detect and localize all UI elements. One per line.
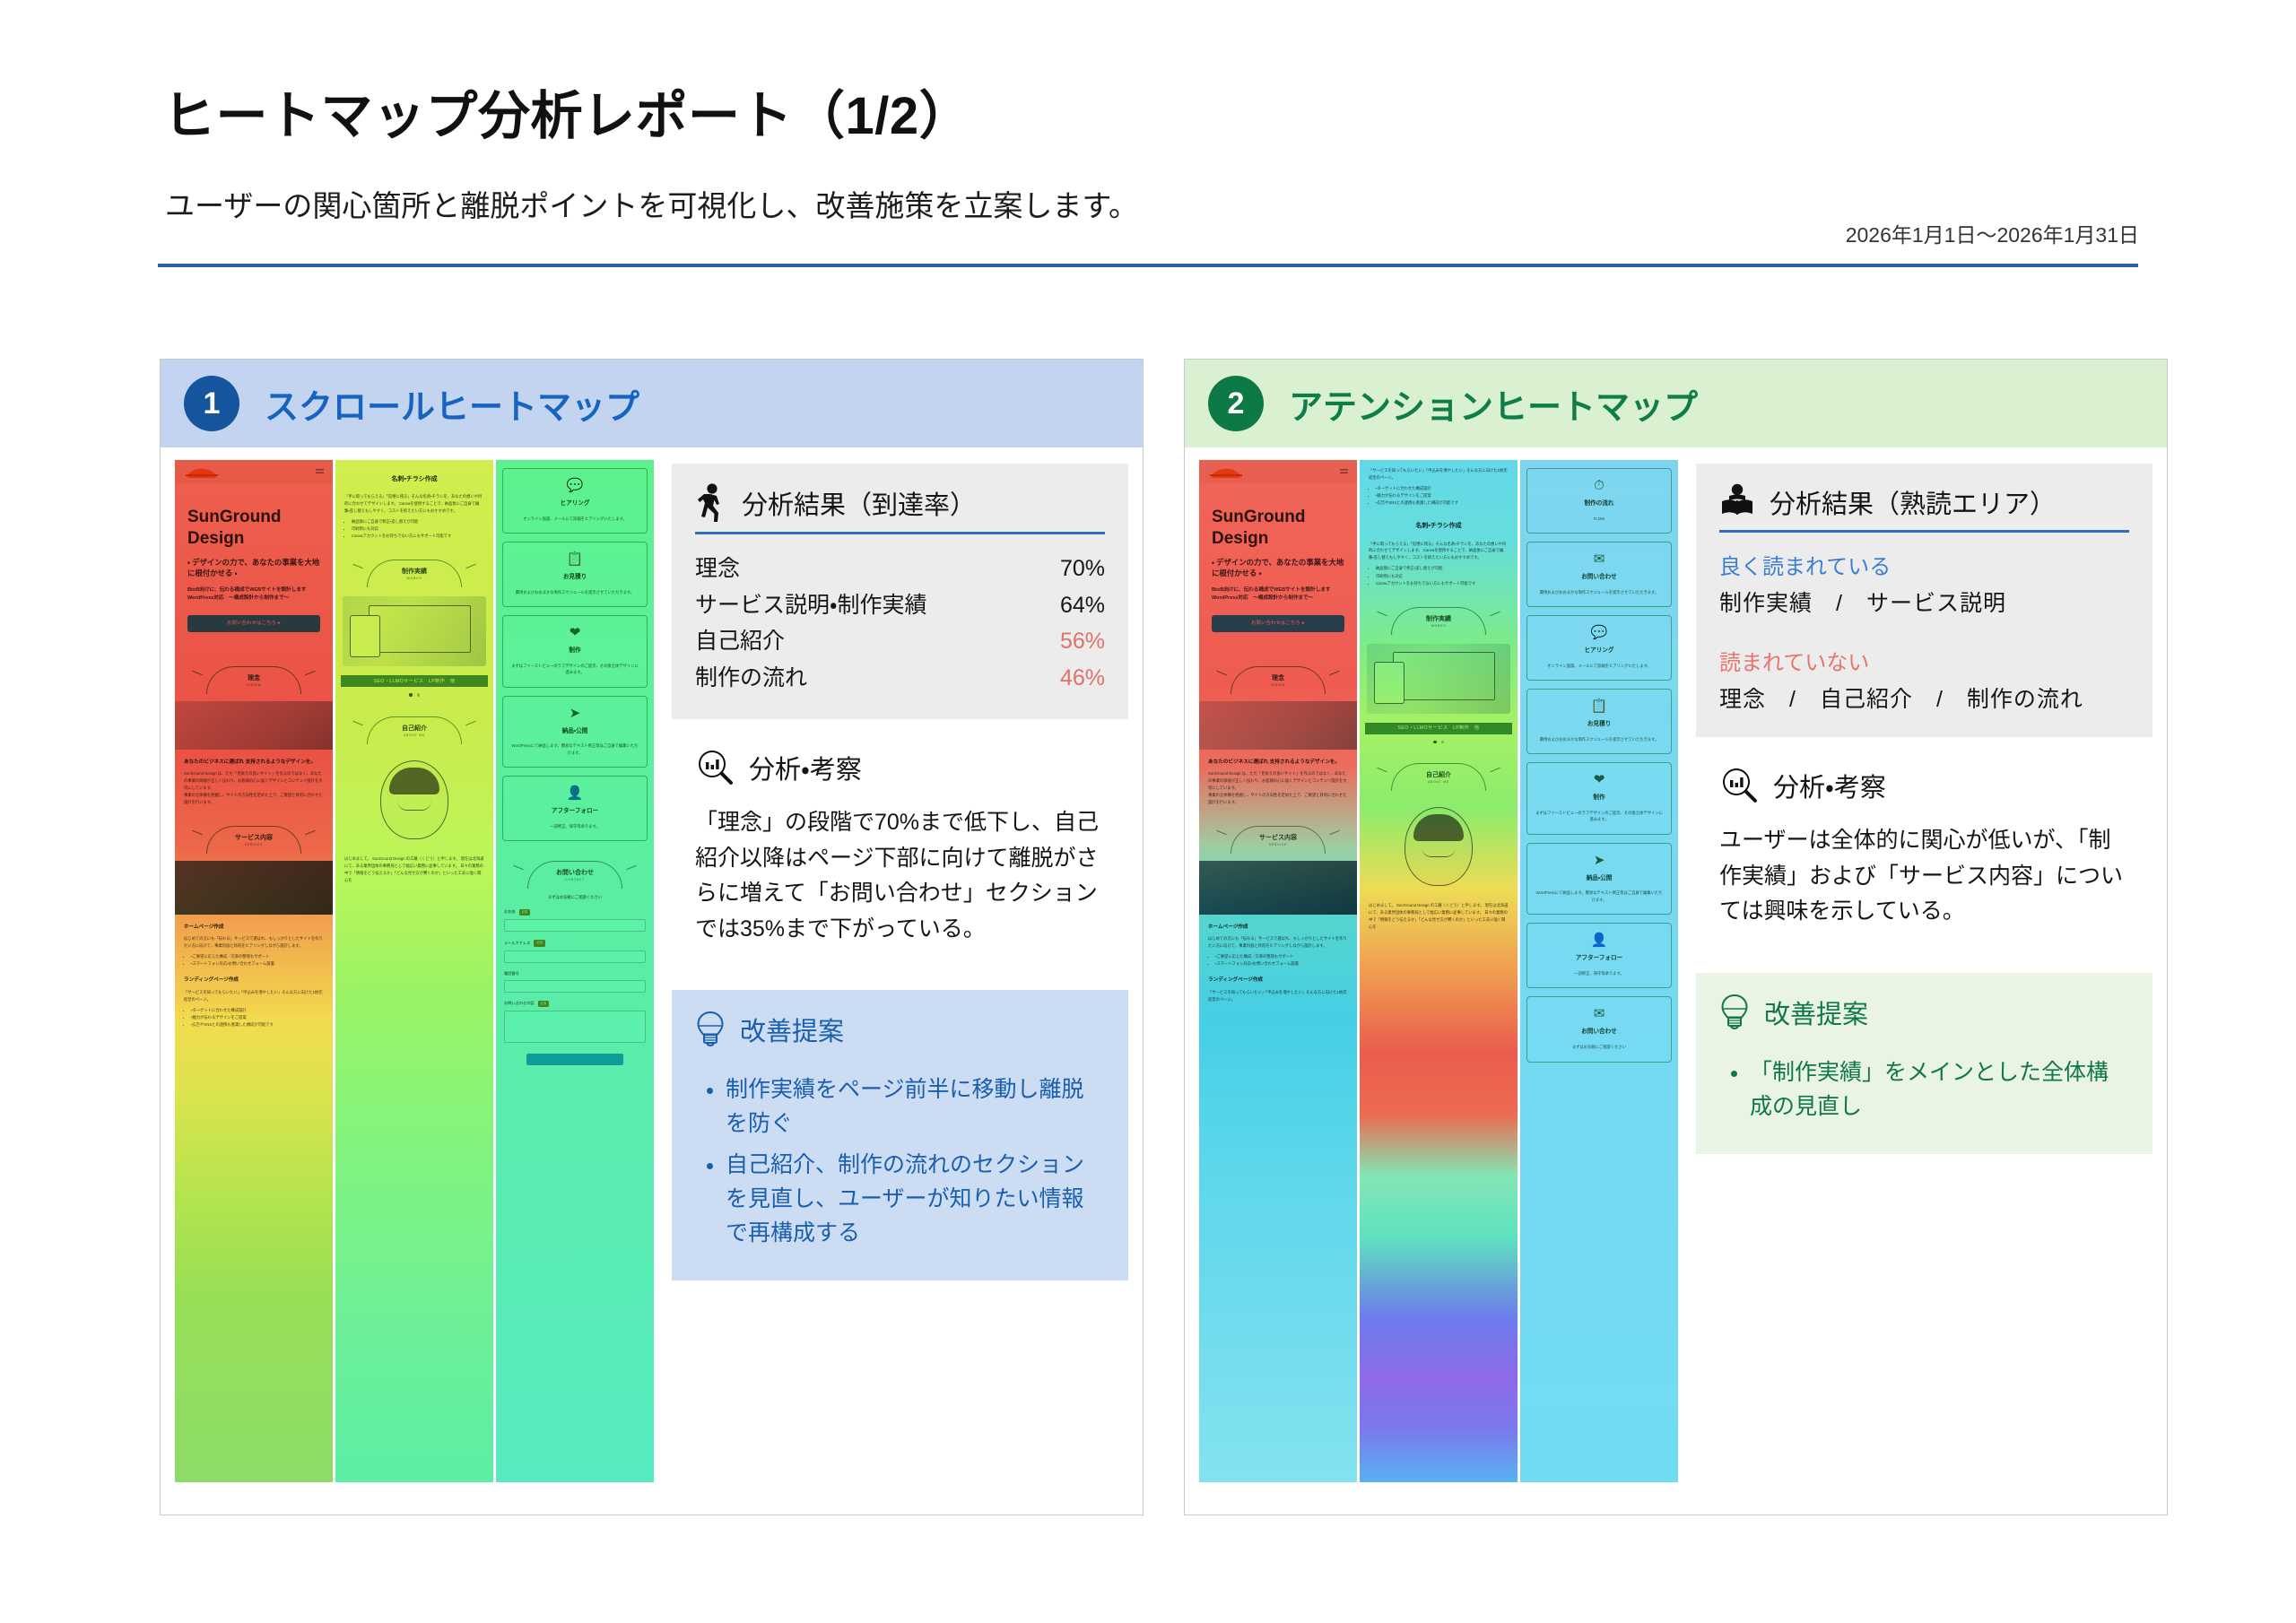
page-header: ヒートマップ分析レポート（1/2） ユーザーの関心箇所と離脱ポイントを可視化し、… xyxy=(0,0,2296,273)
flyer-section-title: 名刺・チラシ作成 xyxy=(335,474,493,484)
works-device-mockup xyxy=(1367,644,1510,714)
heart-icon: ❤ xyxy=(1535,773,1664,786)
suggestion-box-header: 改善提案 xyxy=(695,1010,1105,1049)
not-read-label: 読まれていない xyxy=(1719,645,2129,676)
heatmap-column-2[interactable]: 「サービスを知ってもらいたい」「申込みを増やしたい」そんな方に向けた1枚完結型の… xyxy=(1360,460,1518,1482)
site-mock-column-1: SunGround Design ・ デザインの力で、あなたの事業を大地に根付か… xyxy=(1199,460,1357,1482)
section-title-en: ABOUT ME xyxy=(1428,780,1449,785)
flow-step-aftercare: 👤 アフターフォロー 一部修正、保守等承ります。 xyxy=(1526,923,1672,988)
site-hero: SunGround Design ・ デザインの力で、あなたの事業を大地に根付か… xyxy=(1199,483,1357,647)
page-title: ヒートマップ分析レポート（1/2） xyxy=(163,74,971,149)
works-device-mockup xyxy=(343,596,486,666)
sunground-logo-icon xyxy=(184,466,220,478)
site-cta-button[interactable]: お問い合わせはこちら ▸ xyxy=(1212,615,1344,632)
walking-person-icon xyxy=(695,483,727,523)
site-mock-column-3: ⏱ 制作の流れ FLOW ✉ お問い合わせ 費用およびおおまかな制作スケジュール… xyxy=(1520,460,1678,1482)
site-tagline: ・ デザインの力で、あなたの事業を大地に根付かせる ・ xyxy=(187,557,320,578)
reach-rate-row: 制作の流れ 46% xyxy=(695,660,1105,697)
lightbulb-icon xyxy=(695,1010,726,1049)
flow-step-delivery: ➤ 納品・公開 WordPressにて納品します。簡易なテキスト修正等はご自身で… xyxy=(502,696,648,768)
section-title-en: VISION xyxy=(1271,683,1285,688)
suggestion-title: 改善提案 xyxy=(1764,994,1868,1031)
section-head-contact: お問い合わせ CONTACT xyxy=(527,861,622,889)
section-head-service: サービス内容 SERVICE xyxy=(1231,826,1326,854)
insight-box-scroll: 分析・考察 「理念」の段階で70%まで低下し、自己紹介以降はページ下部に向けて離… xyxy=(672,739,1128,970)
flyer-list: 納品後にご自身で修正・差し替えが可能 印刷用にも対応 Canvaアカウントをお持… xyxy=(335,518,493,540)
service-image xyxy=(1199,861,1357,915)
about-avatar-illustration xyxy=(1405,807,1473,886)
heart-icon: ❤ xyxy=(510,626,639,639)
service-list-1: ・ご要望に応じた構成／文章の整理もサポート ・スマートフォン対応・お問い合わせフ… xyxy=(1199,953,1357,968)
section-title-jp: 自己紹介 xyxy=(1426,770,1451,780)
suggestion-item: 「制作実績」をメインとした全体構成の見直し xyxy=(1750,1055,2129,1124)
result-divider xyxy=(695,532,1105,534)
about-avatar-illustration xyxy=(380,760,448,839)
result-box-scroll: 分析結果（到達率） 理念 70% サービス説明・制作実績 64% 自己紹介 56… xyxy=(672,464,1128,719)
insight-title: 分析・考察 xyxy=(749,749,862,786)
section-title-jp: サービス内容 xyxy=(235,833,273,843)
site-navbar xyxy=(1199,460,1357,483)
insight-text: ユーザーは全体的に関心が低いが、「制作実績」および「サービス内容」については興味… xyxy=(1719,823,2129,930)
magnifier-chart-icon xyxy=(695,748,735,787)
flow-step-hearing: 💬 ヒアリング オンライン面談、メールにて詳細をヒアリングいたします。 xyxy=(502,468,648,534)
lp-list: ・ターゲットに合わせた構成設計 ・魅力が伝わるデザインをご提案 ・広告やSNSと… xyxy=(1360,485,1518,507)
heatmap-column-1[interactable]: SunGround Design ・ デザインの力で、あなたの事業を大地に根付か… xyxy=(175,460,333,1482)
card-number-badge: 1 xyxy=(184,376,239,431)
attention-analysis-panel: 分析結果（熟読エリア） 良く読まれている 制作実績 / サービス説明 読まれてい… xyxy=(1696,460,2152,1500)
site-brand: SunGround Design xyxy=(1212,507,1344,550)
flow-step-contact-card: ✉ お問い合わせ 費用およびおおまかな制作スケジュールを提示させていただきます。 xyxy=(1526,542,1672,607)
suggestion-item: 自己紹介、制作の流れのセクションを見直し、ユーザーが知りたい情報で再構成する xyxy=(726,1148,1105,1250)
flow-step-contact-bottom: ✉ お問い合わせ まずはお気軽にご相談ください xyxy=(1526,996,1672,1062)
report-period: 2026年1月1日〜2026年1月31日 xyxy=(1846,218,2139,248)
section-title-en: ABOUT ME xyxy=(404,733,425,738)
speech-bubble-icon: 💬 xyxy=(1535,626,1664,639)
site-mock-column-3: 💬 ヒアリング オンライン面談、メールにて詳細をヒアリングいたします。 📋 お見… xyxy=(496,460,654,1482)
magnifier-chart-icon xyxy=(1719,766,1759,805)
form-field-message[interactable]: お問い合わせ内容必須 xyxy=(504,1001,646,1043)
card-body-attention: SunGround Design ・ デザインの力で、あなたの事業を大地に根付か… xyxy=(1185,447,2167,1515)
service-block-1: ホームページ作成 はじめての方にも「伝わる」サービスで選ばれ、もしっかりとしたサ… xyxy=(1199,923,1357,950)
works-ribbon: SEO・LLMOサービス LP制作 他 xyxy=(341,675,488,687)
flow-step-estimate: 📋 お見積り 費用およびおおまかな制作スケジュールを提示させていただきます。 xyxy=(1526,689,1672,754)
page-subtitle: ユーザーの関心箇所と離脱ポイントを可視化し、改善施策を立案します。 xyxy=(165,182,1138,225)
flyer-list: 納品後にご自身で修正・差し替えが可能 印刷用にも対応 Canvaアカウントをお持… xyxy=(1360,565,1518,586)
site-cta-button[interactable]: お問い合わせはこちら ▸ xyxy=(187,615,320,632)
header-divider xyxy=(158,264,2138,267)
section-head-vision: 理念 VISION xyxy=(206,666,301,694)
attention-heatmap-preview[interactable]: SunGround Design ・ デザインの力で、あなたの事業を大地に根付か… xyxy=(1199,460,1683,1482)
carousel-dots[interactable] xyxy=(335,693,493,696)
person-icon: 👤 xyxy=(510,786,639,800)
insight-box-header: 分析・考察 xyxy=(695,748,1105,787)
vision-image xyxy=(175,701,333,750)
service-list-1: ・ご要望に応じた構成／文章の整理もサポート ・スマートフォン対応・お問い合わせフ… xyxy=(175,953,333,968)
site-mock-column-1: SunGround Design ・ デザインの力で、あなたの事業を大地に根付か… xyxy=(175,460,333,1482)
card-header-attention: 2 アテンションヒートマップ xyxy=(1185,360,2167,447)
estimate-doc-icon: 📋 xyxy=(510,552,639,566)
section-head-works: 制作実績 WORKS xyxy=(1391,607,1486,635)
form-field-tel[interactable]: 電話番号 xyxy=(504,971,646,994)
section-title-en: SERVICE xyxy=(1269,843,1287,847)
service-image xyxy=(175,861,333,915)
vision-copy-2: 事業の全体像を把握し、サイトの方向性を定めた上で、ご要望と目的に合わせた設計を行… xyxy=(175,792,333,806)
section-title-en: CONTACT xyxy=(565,878,585,882)
mail-icon: ✉ xyxy=(1535,552,1664,566)
section-title-jp: 制作実績 xyxy=(1426,614,1451,624)
hamburger-menu-icon[interactable] xyxy=(1340,469,1348,475)
service-block-2: ランディングページ作成 「サービスを知ってもらいたい」「申込みを増やしたい」そん… xyxy=(1199,976,1357,1002)
site-mock-column-2: 名刺・チラシ作成 「手に取ってもらえる」「記憶に残る」そんな名刺・チラシを、あな… xyxy=(335,460,493,1482)
service-list-2: ・ターゲットに合わせた構成設計 ・魅力が伝わるデザインをご提案 ・広告やSNSと… xyxy=(175,1007,333,1028)
card-number-badge: 2 xyxy=(1208,376,1264,431)
flow-step-flow-head: ⏱ 制作の流れ FLOW xyxy=(1526,468,1672,534)
suggestion-item: 制作実績をページ前半に移動し離脱を防ぐ xyxy=(726,1072,1105,1141)
flyer-body: 「手に取ってもらえる」「記憶に残る」そんな名刺・チラシを、あなたの想いや目的に合… xyxy=(335,493,493,515)
heatmap-column-3[interactable]: 💬 ヒアリング オンライン面談、メールにて詳細をヒアリングいたします。 📋 お見… xyxy=(496,460,654,1482)
heatmap-column-1[interactable]: SunGround Design ・ デザインの力で、あなたの事業を大地に根付か… xyxy=(1199,460,1357,1482)
service-block-1: ホームページ作成 はじめての方にも「伝わる」サービスで選ばれ、もしっかりとしたサ… xyxy=(175,923,333,950)
estimate-doc-icon: 📋 xyxy=(1535,699,1664,713)
section-head-about: 自己紹介 ABOUT ME xyxy=(1391,763,1486,791)
site-hero: SunGround Design ・ デザインの力で、あなたの事業を大地に根付か… xyxy=(175,483,333,647)
lightbulb-icon xyxy=(1719,993,1750,1032)
result-box-header: 分析結果（到達率） xyxy=(695,483,1105,523)
site-tagline: ・ デザインの力で、あなたの事業を大地に根付かせる ・ xyxy=(1212,557,1344,578)
reach-rate-list: 理念 70% サービス説明・制作実績 64% 自己紹介 56% 制作の流れ 46… xyxy=(695,551,1105,696)
service-block-2: ランディングページ作成 「サービスを知ってもらいたい」「申込みを増やしたい」そん… xyxy=(175,976,333,1002)
section-title-jp: 理念 xyxy=(248,673,260,683)
suggestion-list: 「制作実績」をメインとした全体構成の見直し xyxy=(1719,1055,2129,1124)
result-box-attention: 分析結果（熟読エリア） 良く読まれている 制作実績 / サービス説明 読まれてい… xyxy=(1696,464,2152,737)
card-header-scroll: 1 スクロールヒートマップ xyxy=(161,360,1143,447)
flow-step-hearing: 💬 ヒアリング オンライン面談、メールにて詳細をヒアリングいたします。 xyxy=(1526,615,1672,681)
flow-step-delivery: ➤ 納品・公開 WordPressにて納品します。簡易なテキスト修正等はご自身で… xyxy=(1526,843,1672,916)
reach-rate-row: サービス説明・制作実績 64% xyxy=(695,587,1105,624)
carousel-dots[interactable] xyxy=(1360,741,1518,743)
hamburger-menu-icon[interactable] xyxy=(316,469,324,475)
paper-plane-icon: ➤ xyxy=(510,707,639,720)
flow-step-production: ❤ 制作 まずはファーストビューのラフデザインのご提示、その後全体デザインに進み… xyxy=(1526,762,1672,835)
contact-lead: まずはお気軽にご相談ください xyxy=(496,894,654,901)
vision-copy-2: 事業の全体像を把握し、サイトの方向性を定めた上で、ご要望と目的に合わせた設計を行… xyxy=(1199,792,1357,806)
suggestion-box-scroll: 改善提案 制作実績をページ前半に移動し離脱を防ぐ 自己紹介、制作の流れのセクショ… xyxy=(672,990,1128,1280)
message-textarea[interactable] xyxy=(504,1011,646,1043)
heatmap-column-2[interactable]: 名刺・チラシ作成 「手に取ってもらえる」「記憶に残る」そんな名刺・チラシを、あな… xyxy=(335,460,493,1482)
about-body: はじめまして。 SunGround Design の工藤（くどう）と申します。 … xyxy=(335,855,493,884)
heatmap-column-3[interactable]: ⏱ 制作の流れ FLOW ✉ お問い合わせ 費用およびおおまかな制作スケジュール… xyxy=(1520,460,1678,1482)
scroll-heatmap-card: 1 スクロールヒートマップ SunGround Design ・ デザインの力で… xyxy=(160,359,1144,1515)
mail-icon: ✉ xyxy=(1535,1007,1664,1020)
section-title-jp: 自己紹介 xyxy=(402,724,427,733)
card-title: アテンションヒートマップ xyxy=(1289,379,1698,429)
site-mock-column-2: 「サービスを知ってもらいたい」「申込みを増やしたい」そんな方に向けた1枚完結型の… xyxy=(1360,460,1518,1482)
form-field-email[interactable]: メールアドレス必須 xyxy=(504,940,646,962)
insight-text: 「理念」の段階で70%まで低下し、自己紹介以降はページ下部に向けて離脱がさらに増… xyxy=(695,805,1105,947)
paper-plane-icon: ➤ xyxy=(1535,854,1664,867)
card-title: スクロールヒートマップ xyxy=(265,379,639,429)
flow-step-estimate: 📋 お見積り 費用およびおおまかな制作スケジュールを提示させていただきます。 xyxy=(502,542,648,607)
lp-intro: 「サービスを知ってもらいたい」「申込みを増やしたい」そんな方に向けた1枚完結型の… xyxy=(1360,460,1518,482)
name-input[interactable] xyxy=(504,919,646,932)
result-title: 分析結果（熟読エリア） xyxy=(1770,483,2056,521)
tel-input[interactable] xyxy=(504,980,646,993)
reading-person-icon xyxy=(1719,483,1755,521)
result-title: 分析結果（到達率） xyxy=(742,484,976,522)
person-icon: 👤 xyxy=(1535,933,1664,947)
site-lead: BtoB向けに、伝わる構成でWEBサイトを設計します WordPress対応 〜… xyxy=(1212,586,1344,603)
flow-step-aftercare: 👤 アフターフォロー 一部修正、保守等承ります。 xyxy=(502,776,648,841)
form-submit-button[interactable] xyxy=(526,1054,623,1065)
site-navbar xyxy=(175,460,333,483)
section-title-jp: 理念 xyxy=(1272,673,1284,683)
speech-bubble-icon: 💬 xyxy=(510,479,639,492)
works-ribbon: SEO・LLMOサービス LP制作 他 xyxy=(1365,723,1512,734)
section-title-en: SERVICE xyxy=(245,843,263,847)
form-field-name[interactable]: お名前必須 xyxy=(504,909,646,932)
sunground-logo-icon xyxy=(1208,466,1244,478)
email-input[interactable] xyxy=(504,950,646,963)
card-body-scroll: SunGround Design ・ デザインの力で、あなたの事業を大地に根付か… xyxy=(161,447,1143,1515)
vision-copy: あなたのビジネスに選ばれ 支持されるようなデザインを。 SunGround De… xyxy=(1199,758,1357,792)
reach-rate-row: 理念 70% xyxy=(695,551,1105,587)
insight-box-attention: 分析・考察 ユーザーは全体的に関心が低いが、「制作実績」および「サービス内容」に… xyxy=(1696,757,2152,953)
flyer-body: 「手に取ってもらえる」「記憶に残る」そんな名刺・チラシを、あなたの想いや目的に合… xyxy=(1360,541,1518,562)
scroll-heatmap-preview[interactable]: SunGround Design ・ デザインの力で、あなたの事業を大地に根付か… xyxy=(175,460,659,1482)
well-read-value: 制作実績 / サービス説明 xyxy=(1719,586,2129,618)
insight-box-header: 分析・考察 xyxy=(1719,766,2129,805)
flyer-section-title: 名刺・チラシ作成 xyxy=(1360,521,1518,531)
result-box-header: 分析結果（熟読エリア） xyxy=(1719,483,2129,521)
flow-step-production: ❤ 制作 まずはファーストビューのラフデザインのご提示、その後全体デザインに進み… xyxy=(502,615,648,688)
vision-copy: あなたのビジネスに選ばれ 支持されるようなデザインを。 SunGround De… xyxy=(175,758,333,792)
insight-title: 分析・考察 xyxy=(1773,767,1886,804)
about-body: はじめまして。 SunGround Design の工藤（くどう）と申します。 … xyxy=(1360,902,1518,931)
well-read-label: 良く読まれている xyxy=(1719,549,2129,580)
section-head-vision: 理念 VISION xyxy=(1231,666,1326,694)
section-head-works: 制作実績 WORKS xyxy=(367,560,462,587)
suggestion-box-header: 改善提案 xyxy=(1719,993,2129,1032)
not-read-value: 理念 / 自己紹介 / 制作の流れ xyxy=(1719,681,2129,714)
section-title-jp: サービス内容 xyxy=(1259,833,1297,843)
suggestion-box-attention: 改善提案 「制作実績」をメインとした全体構成の見直し xyxy=(1696,973,2152,1154)
attention-heatmap-card: 2 アテンションヒートマップ SunGround Design ・ デザインの力… xyxy=(1184,359,2168,1515)
section-head-about: 自己紹介 ABOUT ME xyxy=(367,716,462,744)
result-divider xyxy=(1719,530,2129,533)
scroll-analysis-panel: 分析結果（到達率） 理念 70% サービス説明・制作実績 64% 自己紹介 56… xyxy=(672,460,1128,1500)
reach-rate-row: 自己紹介 56% xyxy=(695,623,1105,660)
suggestion-title: 改善提案 xyxy=(740,1011,844,1048)
section-title-en: VISION xyxy=(247,683,261,688)
flow-icon: ⏱ xyxy=(1535,479,1664,492)
suggestion-list: 制作実績をページ前半に移動し離脱を防ぐ 自己紹介、制作の流れのセクションを見直し… xyxy=(695,1072,1105,1250)
section-title-en: WORKS xyxy=(1431,624,1447,629)
section-title-jp: お問い合わせ xyxy=(556,868,594,878)
site-lead: BtoB向けに、伝わる構成でWEBサイトを設計します WordPress対応 〜… xyxy=(187,586,320,603)
section-title-jp: 制作実績 xyxy=(402,567,427,577)
site-brand: SunGround Design xyxy=(187,507,320,550)
section-title-en: WORKS xyxy=(407,577,422,581)
vision-image xyxy=(1199,701,1357,750)
section-head-service: サービス内容 SERVICE xyxy=(206,826,301,854)
